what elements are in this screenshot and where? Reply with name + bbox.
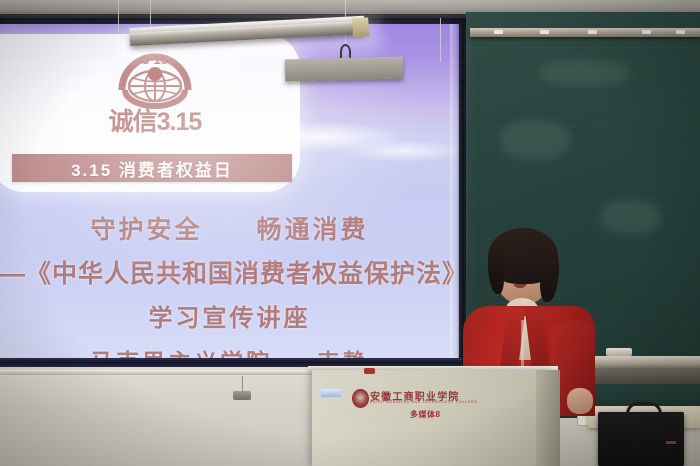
hand bbox=[567, 388, 593, 414]
hair-left bbox=[488, 246, 504, 294]
hair-right bbox=[540, 244, 559, 302]
chalkboard-smudge bbox=[600, 200, 660, 234]
chalkboard-smudge bbox=[540, 60, 630, 86]
black-briefcase[interactable] bbox=[598, 412, 684, 466]
room-label: 多媒体8 bbox=[410, 409, 440, 420]
school-crest-icon bbox=[352, 389, 369, 408]
podium-right-side bbox=[536, 370, 560, 466]
slide-law-title: —《中华人民共和国消费者权益保护法》 bbox=[0, 254, 459, 290]
slide-subtitle: 学习宣传讲座 bbox=[0, 298, 459, 333]
light-suspension-wire bbox=[118, 0, 119, 32]
chalkboard-smudge bbox=[500, 120, 570, 160]
lecture-room-photo: 3·15 诚信3.15 3.15 消费者权益日 守护安全 畅通消费 —《中华人民… bbox=[0, 0, 700, 466]
podium-sticker bbox=[320, 388, 342, 398]
slide-headline-b: 畅通消费 bbox=[256, 216, 368, 244]
light-fixture-secondary-bar bbox=[285, 56, 404, 81]
slide-body-text: 守护安全 畅通消费 —《中华人民共和国消费者权益保护法》 学习宣传讲座 马克思主… bbox=[0, 210, 459, 360]
podium-power-button[interactable] bbox=[364, 368, 375, 374]
slide-headline-a: 守护安全 bbox=[91, 216, 203, 244]
logo-wordmark: 诚信3.15 bbox=[70, 102, 240, 138]
briefcase-tag bbox=[666, 441, 676, 444]
school-name-en: ANHUI BUSINESS AND TECHNOLOGY COLLEGE bbox=[370, 400, 478, 404]
light-suspension-wire bbox=[440, 18, 441, 62]
slide-banner: 3.15 消费者权益日 bbox=[12, 154, 292, 182]
wall-speaker-wire bbox=[242, 376, 243, 392]
wall-mounted-speaker bbox=[233, 391, 251, 400]
slide-banner-text: 3.15 消费者权益日 bbox=[71, 156, 233, 181]
chalkboard-top-rail bbox=[470, 28, 700, 37]
chalkboard-eraser[interactable] bbox=[606, 348, 632, 356]
